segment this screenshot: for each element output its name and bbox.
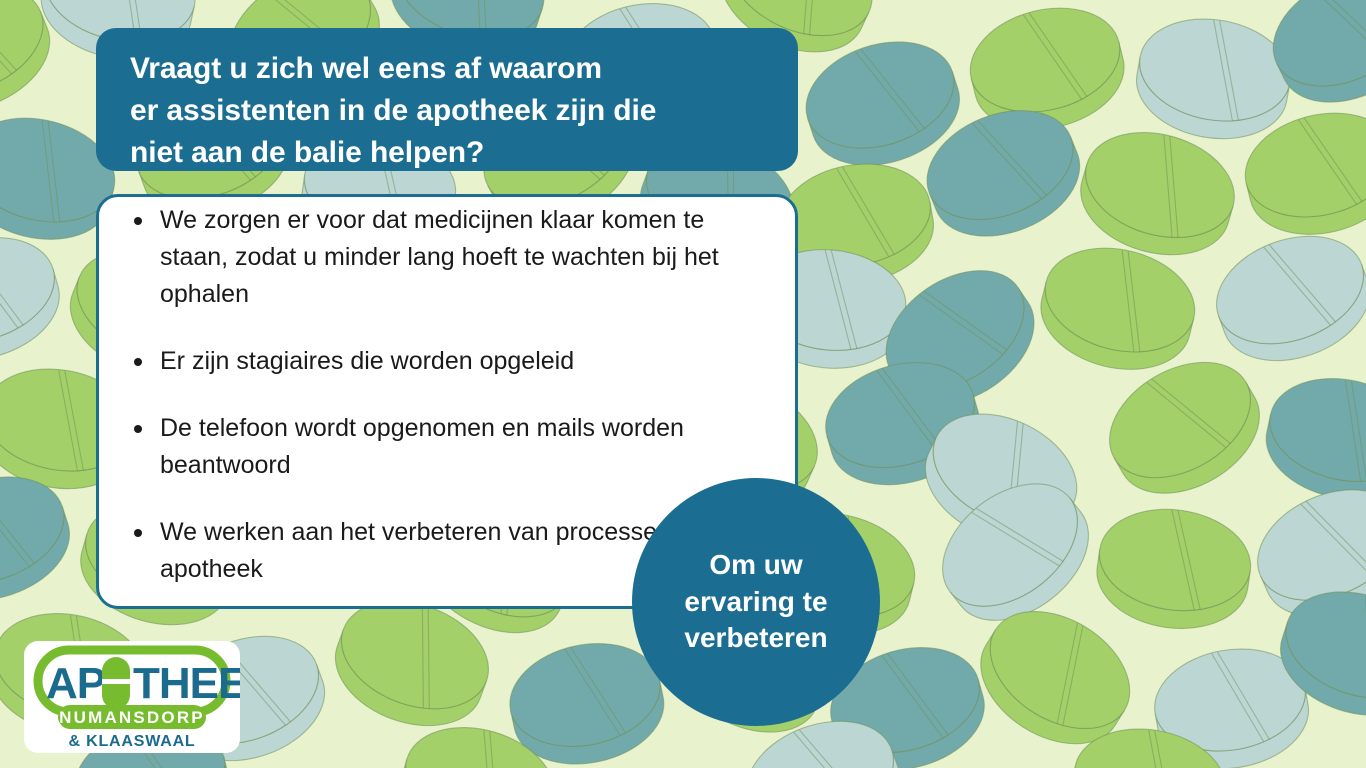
bullet-dot-icon <box>134 358 142 366</box>
list-item-label: De telefoon wordt opgenomen en mails wor… <box>160 414 684 479</box>
logo-apotheek-text: AP <box>46 659 105 708</box>
bullet-dot-icon <box>134 425 142 433</box>
circle-badge-label: Om uw ervaring te verbeteren <box>666 547 845 658</box>
circle-badge: Om uw ervaring te verbeteren <box>632 478 880 726</box>
logo-town2-text: & KLAASWAAL <box>68 733 195 750</box>
logo-town-text: NUMANSDORP <box>59 708 205 727</box>
bullet-dot-icon <box>134 529 142 537</box>
list-item: De telefoon wordt opgenomen en mails wor… <box>112 410 774 484</box>
slide-canvas: Vraagt u zich wel eens af waarom er assi… <box>0 0 1366 768</box>
list-item: Er zijn stagiaires die worden opgeleid <box>112 343 774 380</box>
svg-text:THEEK: THEEK <box>133 659 240 708</box>
list-item-label: Er zijn stagiaires die worden opgeleid <box>160 347 574 375</box>
page-title: Vraagt u zich wel eens af waarom er assi… <box>130 48 764 174</box>
header-banner: Vraagt u zich wel eens af waarom er assi… <box>96 28 798 171</box>
list-item: We zorgen er voor dat medicijnen klaar k… <box>112 202 774 313</box>
capsule-icon <box>102 657 130 709</box>
list-item-label: We zorgen er voor dat medicijnen klaar k… <box>160 206 719 308</box>
logo: AP THEEK NUMANSDORP & KLAASWAAL <box>24 641 240 753</box>
bullet-dot-icon <box>134 217 142 225</box>
